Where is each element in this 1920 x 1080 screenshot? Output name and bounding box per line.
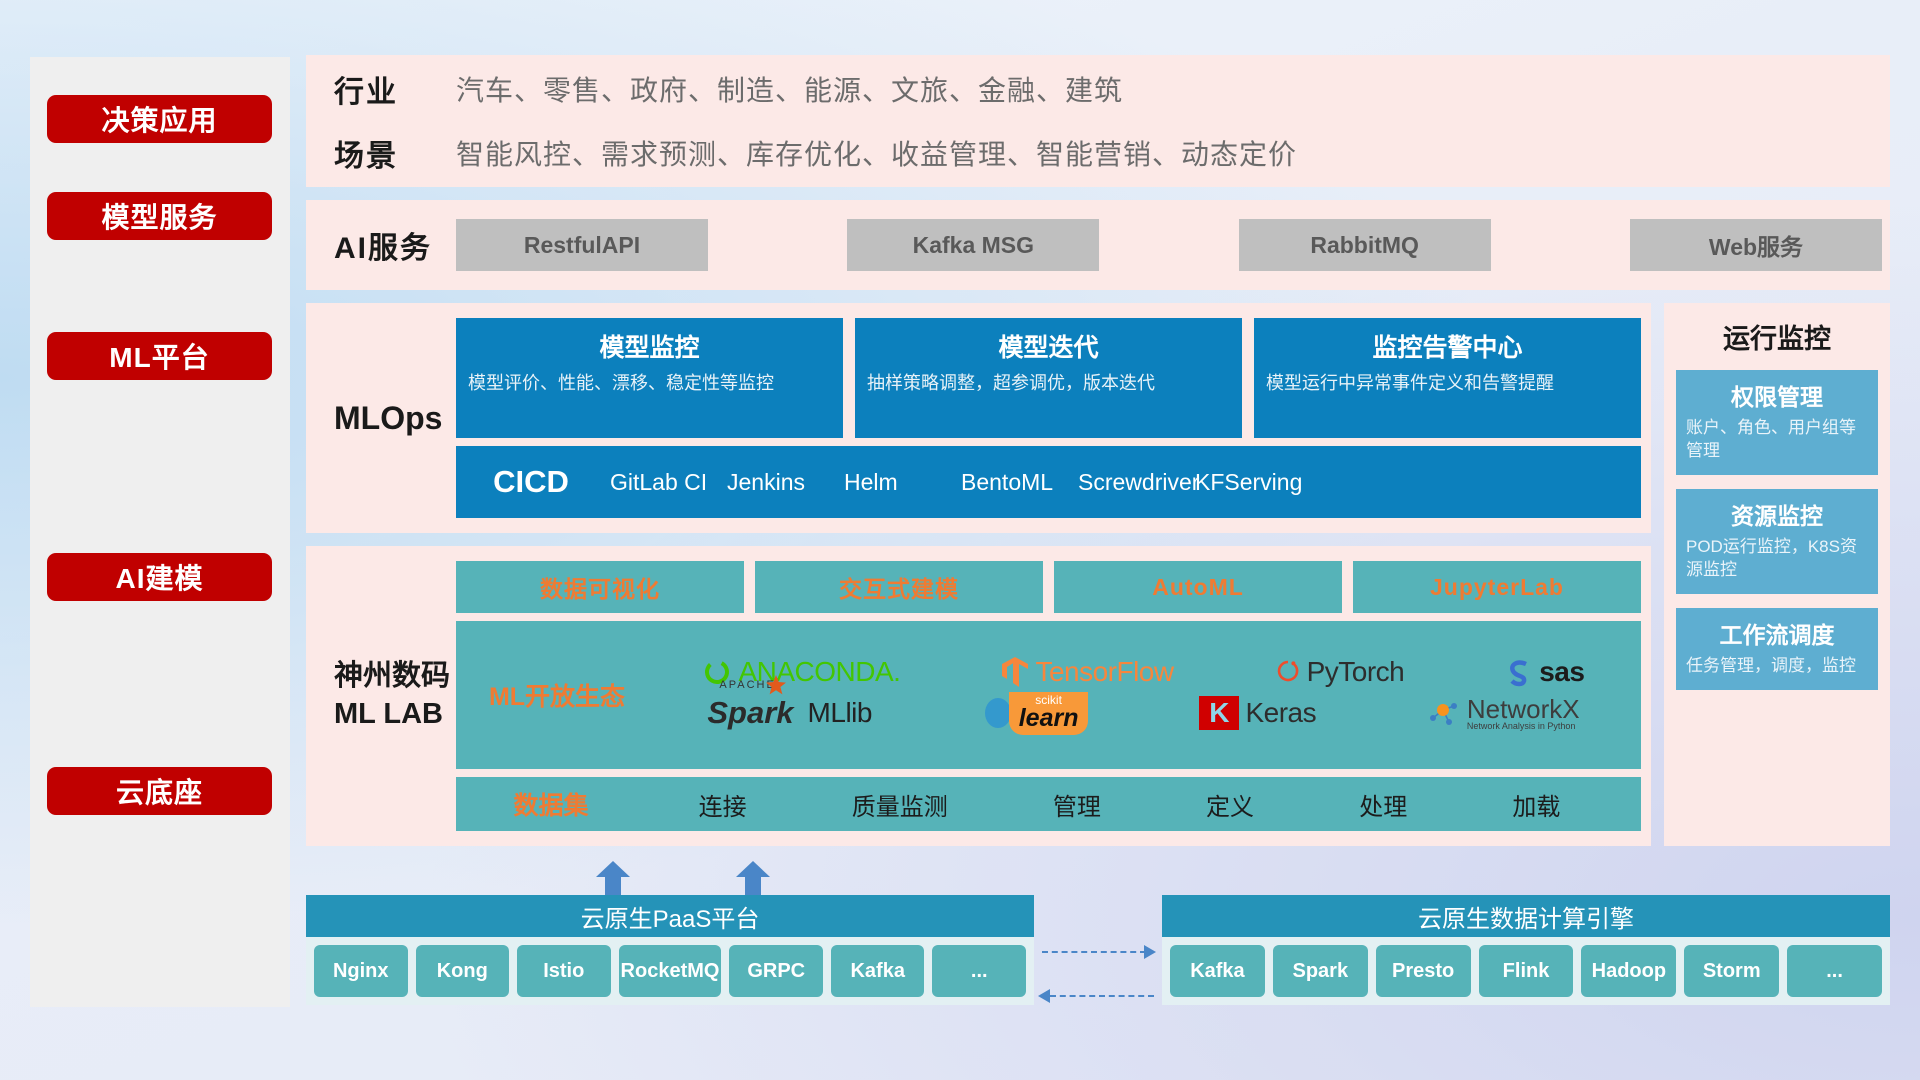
card-desc: POD运行监控，K8S资源监控 (1686, 536, 1868, 582)
mllib-text: MLlib (808, 697, 872, 729)
ml-open-ecosystem: ML开放生态 ANACONDA. (456, 621, 1641, 769)
tensorflow-logo: TensorFlow (1001, 656, 1173, 688)
monitor-card-workflow[interactable]: 工作流调度 任务管理，调度，监控 (1676, 608, 1878, 690)
up-arrow-engine-icon (736, 861, 770, 895)
rail-item-ai-modeling[interactable]: AI建模 (47, 553, 272, 601)
networkx-icon (1427, 698, 1461, 728)
mlops-band: MLOps 模型监控 模型评价、性能、漂移、稳定性等监控 模型迭代 抽样策略调整… (306, 303, 1651, 533)
rail-item-ml-platform[interactable]: ML平台 (47, 332, 272, 380)
dataset-row: 数据集 连接 质量监测 管理 定义 处理 加载 (456, 777, 1641, 831)
rail-label: 云底座 (116, 771, 203, 811)
keras-k-icon: K (1199, 696, 1239, 730)
rail-label: AI建模 (115, 557, 203, 597)
ml-lab-key-line1: 神州数码 (334, 658, 456, 696)
keras-text: Keras (1245, 697, 1316, 729)
industry-row: 行业 汽车、零售、政府、制造、能源、文旅、金融、建筑 (334, 67, 1890, 111)
card-desc: 模型评价、性能、漂移、稳定性等监控 (468, 371, 831, 395)
card-desc: 账户、角色、用户组等管理 (1686, 417, 1868, 463)
spark-star-icon (765, 675, 787, 697)
cicd-title: CICD (456, 464, 606, 500)
dataset-item-connect[interactable]: 连接 (699, 787, 747, 822)
spark-mllib-logo: APACHE Spark MLlib (707, 695, 872, 731)
industry-key: 行业 (334, 67, 456, 111)
cicd-item-screwdriver[interactable]: Screwdriver (1074, 469, 1191, 495)
mlops-card-alert-center[interactable]: 监控告警中心 模型运行中异常事件定义和告警提醒 (1254, 318, 1641, 438)
spark-text: Spark (707, 695, 793, 730)
rail-label: 决策应用 (101, 99, 217, 139)
card-desc: 抽样策略调整，超参调优，版本迭代 (867, 371, 1230, 395)
pytorch-logo: PyTorch (1275, 656, 1405, 688)
tool-jupyterlab[interactable]: JupyterLab (1353, 561, 1641, 613)
scenario-key: 场景 (334, 131, 456, 175)
cicd-item-gitlab-ci[interactable]: GitLab CI (606, 469, 723, 495)
paas-title: 云原生PaaS平台 (306, 895, 1034, 937)
tool-automl[interactable]: AutoML (1054, 561, 1342, 613)
runtime-monitor-title: 运行监控 (1676, 317, 1878, 356)
card-title: 权限管理 (1686, 378, 1868, 412)
ecosystem-label: ML开放生态 (462, 677, 652, 713)
service-box-restfulapi[interactable]: RestfulAPI (456, 219, 708, 271)
dashed-line-left (1050, 995, 1154, 997)
paas-chip-rocketmq[interactable]: RocketMQ (619, 945, 722, 997)
service-box-kafka-msg[interactable]: Kafka MSG (847, 219, 1099, 271)
decision-applications-band: 行业 汽车、零售、政府、制造、能源、文旅、金融、建筑 场景 智能风控、需求预测、… (306, 55, 1890, 187)
monitor-card-resource[interactable]: 资源监控 POD运行监控，K8S资源监控 (1676, 489, 1878, 594)
keras-logo: K Keras (1199, 696, 1316, 730)
dashed-line-right (1042, 951, 1146, 953)
cloud-paas-platform: 云原生PaaS平台 Nginx Kong Istio RocketMQ GRPC… (306, 895, 1034, 1005)
scikit-learn-logo: scikit learn (983, 692, 1089, 735)
card-title: 监控告警中心 (1266, 328, 1629, 364)
monitor-card-permission[interactable]: 权限管理 账户、角色、用户组等管理 (1676, 370, 1878, 475)
dataset-label: 数据集 (456, 786, 646, 822)
cicd-item-helm[interactable]: Helm (840, 469, 957, 495)
runtime-monitor-sidebar: 运行监控 权限管理 账户、角色、用户组等管理 资源监控 POD运行监控，K8S资… (1664, 303, 1890, 846)
stack-layer-rail: 决策应用 模型服务 ML平台 AI建模 云底座 (30, 57, 290, 1007)
networkx-text: NetworkX (1467, 696, 1580, 722)
rail-item-cloud-base[interactable]: 云底座 (47, 767, 272, 815)
paas-chip-kafka[interactable]: Kafka (831, 945, 925, 997)
paas-chip-istio[interactable]: Istio (517, 945, 611, 997)
engine-chip-hadoop[interactable]: Hadoop (1581, 945, 1676, 997)
scenario-value: 智能风控、需求预测、库存优化、收益管理、智能营销、动态定价 (456, 133, 1297, 173)
industry-value: 汽车、零售、政府、制造、能源、文旅、金融、建筑 (456, 69, 1123, 109)
ai-service-band: AI服务 RestfulAPI Kafka MSG RabbitMQ Web服务 (306, 200, 1890, 290)
card-title: 工作流调度 (1686, 616, 1868, 650)
cicd-item-bentoml[interactable]: BentoML (957, 469, 1074, 495)
cicd-item-jenkins[interactable]: Jenkins (723, 469, 840, 495)
rail-item-model-service[interactable]: 模型服务 (47, 192, 272, 240)
card-title: 模型监控 (468, 328, 831, 364)
dataset-item-manage[interactable]: 管理 (1053, 787, 1101, 822)
card-title: 资源监控 (1686, 497, 1868, 531)
sas-icon (1505, 657, 1533, 687)
paas-chip-more[interactable]: ... (932, 945, 1026, 997)
paas-chip-grpc[interactable]: GRPC (729, 945, 823, 997)
pytorch-icon (1275, 657, 1301, 687)
cicd-row: CICD GitLab CI Jenkins Helm BentoML Scre… (456, 446, 1641, 518)
dataset-item-load[interactable]: 加载 (1512, 787, 1560, 822)
cloud-foundation-row: 云原生PaaS平台 Nginx Kong Istio RocketMQ GRPC… (306, 895, 1890, 1025)
paas-chip-nginx[interactable]: Nginx (314, 945, 408, 997)
dataset-item-define[interactable]: 定义 (1206, 787, 1254, 822)
sas-text: sas (1539, 656, 1584, 688)
engine-chip-spark[interactable]: Spark (1273, 945, 1368, 997)
tensorflow-text: TensorFlow (1035, 656, 1173, 688)
ml-lab-key: 神州数码 ML LAB (334, 658, 456, 733)
up-arrow-paas-icon (596, 861, 630, 895)
engine-chip-presto[interactable]: Presto (1376, 945, 1471, 997)
ai-service-key: AI服务 (334, 223, 456, 267)
service-box-web[interactable]: Web服务 (1630, 219, 1882, 271)
learn-text: learn (1019, 706, 1079, 731)
networkx-logo: NetworkX Network Analysis in Python (1427, 696, 1580, 731)
dataset-item-quality[interactable]: 质量监测 (852, 787, 948, 822)
dataset-item-process[interactable]: 处理 (1359, 787, 1407, 822)
cloud-data-engine: 云原生数据计算引擎 Kafka Spark Presto Flink Hadoo… (1162, 895, 1890, 1005)
pytorch-text: PyTorch (1307, 656, 1405, 688)
cicd-item-kfserving[interactable]: KFServing (1191, 469, 1308, 495)
rail-label: ML平台 (109, 336, 209, 376)
engine-chip-more[interactable]: ... (1787, 945, 1882, 997)
card-desc: 任务管理，调度，监控 (1686, 655, 1868, 678)
sas-logo: sas (1505, 656, 1584, 688)
rail-item-decision-apps[interactable]: 决策应用 (47, 95, 272, 143)
engine-chip-storm[interactable]: Storm (1684, 945, 1779, 997)
engine-chip-flink[interactable]: Flink (1479, 945, 1574, 997)
service-box-rabbitmq[interactable]: RabbitMQ (1239, 219, 1491, 271)
mlops-key: MLOps (334, 400, 456, 437)
tool-data-visualization[interactable]: 数据可视化 (456, 561, 744, 613)
architecture-main: 行业 汽车、零售、政府、制造、能源、文旅、金融、建筑 场景 智能风控、需求预测、… (306, 55, 1890, 846)
tool-interactive-modeling[interactable]: 交互式建模 (755, 561, 1043, 613)
engine-chip-kafka[interactable]: Kafka (1170, 945, 1265, 997)
arrowhead-right-icon (1144, 945, 1156, 959)
mlops-card-model-iteration[interactable]: 模型迭代 抽样策略调整，超参调优，版本迭代 (855, 318, 1242, 438)
scenario-row: 场景 智能风控、需求预测、库存优化、收益管理、智能营销、动态定价 (334, 131, 1890, 175)
engine-title: 云原生数据计算引擎 (1162, 895, 1890, 937)
ml-lab-key-line2: ML LAB (334, 696, 456, 734)
tensorflow-icon (1001, 656, 1029, 688)
arrowhead-left-icon (1038, 989, 1050, 1003)
card-title: 模型迭代 (867, 328, 1230, 364)
rail-label: 模型服务 (101, 196, 217, 236)
paas-chip-kong[interactable]: Kong (416, 945, 510, 997)
networkx-tagline: Network Analysis in Python (1467, 722, 1580, 731)
mlops-card-model-monitoring[interactable]: 模型监控 模型评价、性能、漂移、稳定性等监控 (456, 318, 843, 438)
scikit-learn-badge: scikit learn (1009, 692, 1089, 735)
card-desc: 模型运行中异常事件定义和告警提醒 (1266, 371, 1629, 395)
ai-modeling-band: 神州数码 ML LAB 数据可视化 交互式建模 AutoML JupyterLa… (306, 546, 1651, 846)
